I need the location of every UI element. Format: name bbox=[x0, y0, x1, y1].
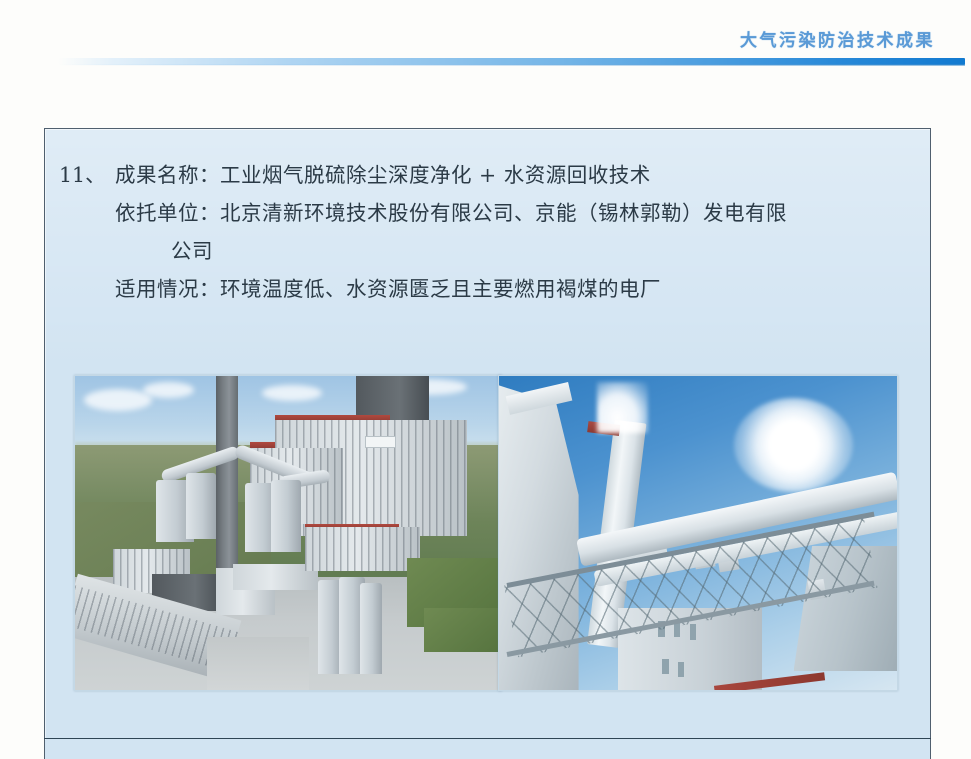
absorber-tower bbox=[271, 480, 301, 552]
chimney-stack-photo-canvas bbox=[499, 376, 897, 690]
building-block bbox=[356, 376, 428, 420]
section-divider bbox=[44, 738, 931, 739]
building-window bbox=[662, 659, 668, 675]
entry-line-organization-continued: 公司 bbox=[59, 232, 916, 270]
entry-value-organization: 北京清新环境技术股份有限公司、京能（锡林郭勒）发电有限 bbox=[220, 194, 787, 232]
building-window bbox=[690, 624, 696, 640]
building-signboard bbox=[365, 436, 397, 449]
absorber-tower bbox=[186, 473, 216, 539]
entry-value-name: 工业烟气脱硫除尘深度净化 + 水资源回收技术 bbox=[220, 156, 651, 194]
cloud-shape bbox=[143, 382, 194, 398]
photo-row bbox=[45, 367, 932, 697]
page-header-title: 大气污染防治技术成果 bbox=[740, 26, 935, 51]
lower-section-area bbox=[45, 740, 930, 759]
entry-value-application: 环境温度低、水资源匮乏且主要燃用褐煤的电厂 bbox=[220, 270, 661, 308]
power-plant-aerial-photo bbox=[74, 375, 502, 691]
page-header: 大气污染防治技术成果 bbox=[0, 0, 971, 76]
steam-plume bbox=[597, 382, 649, 432]
plant-yard bbox=[207, 637, 309, 690]
entry-label-application: 适用情况： bbox=[115, 270, 220, 308]
entry-line-organization: 依托单位： 北京清新环境技术股份有限公司、京能（锡林郭勒）发电有限 bbox=[59, 194, 916, 232]
entry-label-organization: 依托单位： bbox=[115, 194, 220, 232]
building-window-stripes bbox=[305, 527, 420, 571]
cloud-shape bbox=[262, 385, 322, 401]
chimney-stack bbox=[216, 376, 238, 590]
cloud-shape bbox=[84, 389, 152, 411]
sun-glare bbox=[734, 398, 853, 492]
content-frame: 11、 成果名称： 工业烟气脱硫除尘深度净化 + 水资源回收技术 依托单位： 北… bbox=[44, 128, 931, 759]
building-window bbox=[678, 662, 684, 678]
chimney-stack-photo bbox=[498, 375, 898, 691]
header-rule-shadow bbox=[58, 64, 965, 66]
coal-silo bbox=[360, 583, 381, 674]
entry-line-title: 11、 成果名称： 工业烟气脱硫除尘深度净化 + 水资源回收技术 bbox=[59, 156, 916, 194]
entry-text-block: 11、 成果名称： 工业烟气脱硫除尘深度净化 + 水资源回收技术 依托单位： 北… bbox=[59, 156, 916, 308]
entry-line-application: 适用情况： 环境温度低、水资源匮乏且主要燃用褐煤的电厂 bbox=[59, 270, 916, 308]
greenery-region bbox=[424, 608, 501, 652]
entry-label-name: 成果名称： bbox=[115, 156, 220, 194]
power-plant-aerial-photo-canvas bbox=[75, 376, 501, 690]
entry-number: 11、 bbox=[59, 156, 115, 194]
